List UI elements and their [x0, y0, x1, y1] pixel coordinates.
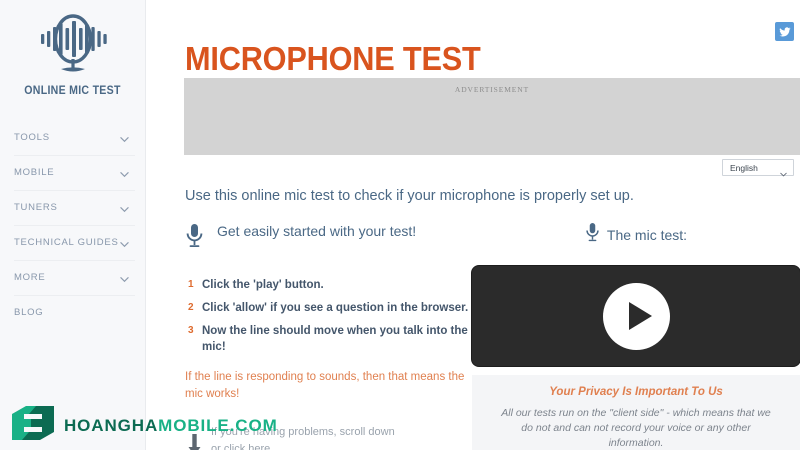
play-triangle [629, 302, 652, 330]
mic-works-note: If the line is responding to sounds, the… [185, 369, 475, 403]
sidebar-item-blog[interactable]: BLOG [0, 295, 145, 330]
privacy-heading: Your Privacy Is Important To Us [494, 386, 778, 398]
microphone-waveform-icon [0, 14, 145, 81]
microphone-icon [585, 222, 600, 248]
privacy-notice: Your Privacy Is Important To Us All our … [472, 375, 800, 450]
chevron-down-icon[interactable] [120, 170, 129, 179]
language-select-value: English [723, 163, 758, 173]
list-item: Now the line should move when you talk i… [202, 323, 475, 355]
page-root: ONLINE MIC TEST TOOLS MOBILE TUNERS [0, 0, 800, 450]
chevron-down-icon[interactable] [120, 205, 129, 214]
sidebar-item-tuners[interactable]: TUNERS [0, 190, 145, 225]
watermark-text-dark: HOANGHA [64, 416, 158, 435]
sidebar-item-technical-guides[interactable]: TECHNICAL GUIDES [0, 225, 145, 260]
chevron-down-icon[interactable] [120, 135, 129, 144]
sidebar-item-label: TOOLS [14, 132, 50, 143]
advertisement-banner[interactable]: ADVERTISEMENT [184, 78, 800, 155]
sidebar-item-label: MORE [14, 272, 46, 283]
mic-test-column: The mic test: Your Privacy Is Important … [472, 222, 800, 450]
language-select[interactable]: English [722, 159, 794, 176]
sidebar-item-more[interactable]: MORE [0, 260, 145, 295]
main-content: MICROPHONE TEST ADVERTISEMENT English Us… [146, 0, 800, 450]
site-logo[interactable]: ONLINE MIC TEST [0, 0, 145, 103]
chevron-down-icon [780, 165, 787, 172]
watermark: HOANGHAMOBILE.COM [9, 405, 278, 446]
watermark-text: HOANGHAMOBILE.COM [64, 417, 278, 434]
page-title: MICROPHONE TEST [185, 42, 481, 76]
chevron-down-icon[interactable] [120, 275, 129, 284]
sidebar-nav: TOOLS MOBILE TUNERS TECHNICAL GUIDES [0, 120, 145, 330]
sidebar-item-label: MOBILE [14, 167, 54, 178]
getting-started-header: Get easily started with your test! [185, 222, 475, 254]
mic-test-player[interactable] [472, 266, 800, 366]
sidebar-item-tools[interactable]: TOOLS [0, 120, 145, 155]
list-item: Click 'allow' if you see a question in t… [202, 300, 475, 316]
chevron-down-icon[interactable] [120, 240, 129, 249]
list-item: Click the 'play' button. [202, 277, 475, 293]
twitter-icon[interactable] [775, 22, 794, 41]
sidebar: ONLINE MIC TEST TOOLS MOBILE TUNERS [0, 0, 146, 450]
microphone-icon [185, 223, 204, 254]
sidebar-item-label: TUNERS [14, 202, 58, 213]
steps-list: Click the 'play' button. Click 'allow' i… [185, 277, 475, 355]
sidebar-item-mobile[interactable]: MOBILE [0, 155, 145, 190]
play-icon[interactable] [603, 283, 670, 350]
advertisement-label: ADVERTISEMENT [455, 85, 529, 94]
sidebar-item-label: TECHNICAL GUIDES [14, 237, 119, 248]
privacy-body: All our tests run on the "client side" -… [494, 406, 778, 450]
sidebar-item-label: BLOG [14, 307, 43, 318]
intro-text: Use this online mic test to check if you… [185, 188, 785, 204]
mic-test-header: The mic test: [472, 222, 800, 248]
getting-started-heading: Get easily started with your test! [217, 222, 416, 240]
hoanghamobile-logo-icon [9, 405, 57, 446]
mic-test-heading: The mic test: [607, 226, 687, 244]
site-logo-text: ONLINE MIC TEST [6, 85, 139, 97]
watermark-text-light: MOBILE.COM [158, 416, 278, 435]
